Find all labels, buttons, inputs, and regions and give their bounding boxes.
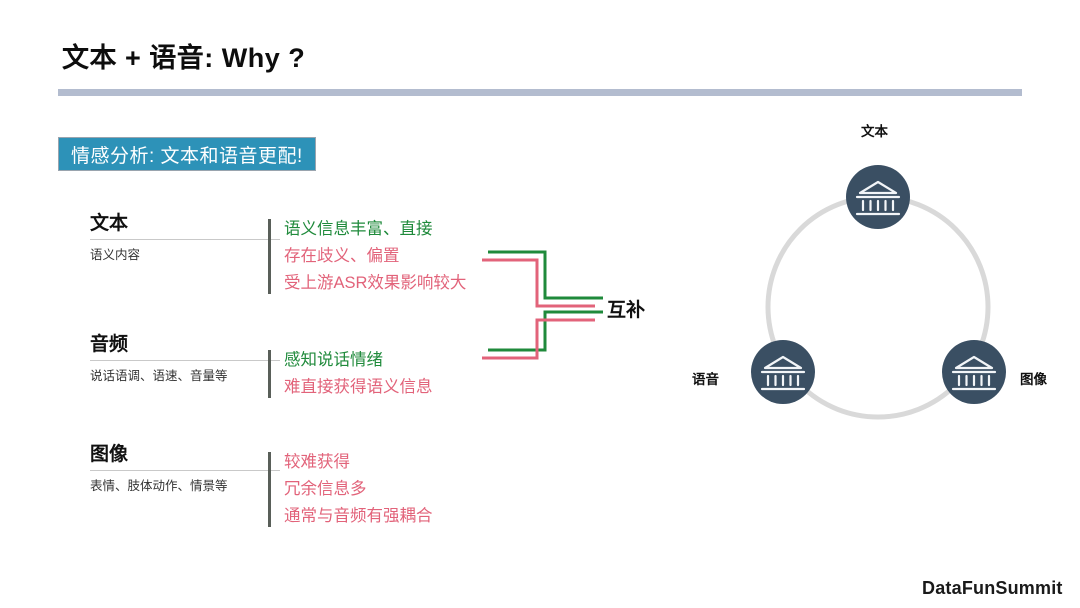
bullet-divider-bar <box>268 350 271 398</box>
modality-title-underline <box>90 239 280 240</box>
brand-logo: DataFunSummit <box>922 578 1063 599</box>
list-item: 较难获得 <box>284 449 433 476</box>
modality-title-underline <box>90 470 280 471</box>
list-item: 语义信息丰富、直接 <box>284 216 466 243</box>
bullet-divider-bar <box>268 219 271 294</box>
list-item: 冗余信息多 <box>284 476 433 503</box>
list-item: 通常与音频有强耦合 <box>284 503 433 530</box>
ring-label-speech: 语音 <box>692 368 719 388</box>
modality-subtitle: 语义内容 <box>90 247 280 263</box>
modality-points-audio: 感知说话情绪 难直接获得语义信息 <box>268 347 433 401</box>
bullet-divider-bar <box>268 452 271 527</box>
modality-points-image: 较难获得 冗余信息多 通常与音频有强耦合 <box>268 449 433 530</box>
modality-head-image: 图像 表情、肢体动作、情景等 <box>90 443 280 494</box>
brace-lower-red-line <box>482 320 595 358</box>
banner-label: 情感分析: 文本和语音更配! <box>71 141 303 168</box>
ring-label-image: 图像 <box>1020 368 1047 388</box>
modality-title: 图像 <box>90 443 280 467</box>
modality-title-underline <box>90 360 280 361</box>
modality-subtitle: 说话语调、语速、音量等 <box>90 368 280 384</box>
modality-head-audio: 音频 说话语调、语速、音量等 <box>90 333 280 384</box>
brace-lower-green-line <box>488 312 603 350</box>
page-title: 文本 + 语音: Why ? <box>62 36 305 75</box>
modality-subtitle: 表情、肢体动作、情景等 <box>90 478 280 494</box>
modality-title: 文本 <box>90 212 280 236</box>
ring-node-speech[interactable] <box>751 340 815 404</box>
ring-node-text[interactable] <box>846 165 910 229</box>
list-item: 难直接获得语义信息 <box>284 374 433 401</box>
complementary-label: 互补 <box>607 295 645 322</box>
modality-title: 音频 <box>90 333 280 357</box>
list-item: 受上游ASR效果影响较大 <box>284 270 466 297</box>
modality-points-text: 语义信息丰富、直接 存在歧义、偏置 受上游ASR效果影响较大 <box>268 216 466 297</box>
modality-ring-diagram: 文本 语音 图像 <box>690 110 1080 430</box>
list-item: 存在歧义、偏置 <box>284 243 466 270</box>
list-item: 感知说话情绪 <box>284 347 433 374</box>
ring-label-text: 文本 <box>861 120 888 140</box>
modality-head-text: 文本 语义内容 <box>90 212 280 263</box>
title-divider <box>58 89 1022 96</box>
ring-node-image[interactable] <box>942 340 1006 404</box>
status-badge: 情感分析: 文本和语音更配! <box>58 137 316 171</box>
